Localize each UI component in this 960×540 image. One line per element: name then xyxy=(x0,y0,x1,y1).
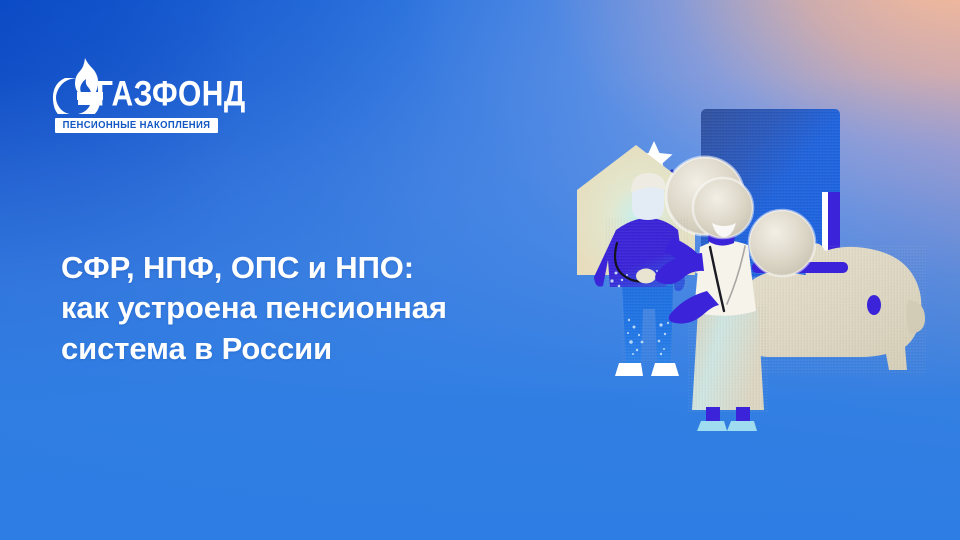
pension-system-illustration xyxy=(560,95,960,445)
gazfond-logo[interactable]: ГАЗФОНД ПЕНСИОННЫЕ НАКОПЛЕНИЯ xyxy=(52,56,224,138)
logo-wordmark: ГАЗФОНД xyxy=(96,77,246,112)
logo-tagline: ПЕНСИОННЫЕ НАКОПЛЕНИЯ xyxy=(55,118,218,133)
page-title-line-2: как устроена пенсионная xyxy=(61,288,581,328)
page-title-line-3: система в России xyxy=(61,329,581,369)
page-title-line-1: СФР, НПФ, ОПС и НПО: xyxy=(61,248,581,288)
shoe-left xyxy=(615,363,643,376)
shoe-right xyxy=(651,363,679,376)
piggy-eye xyxy=(867,295,881,315)
banner-canvas: ГАЗФОНД ПЕНСИОННЫЕ НАКОПЛЕНИЯ СФР, НПФ, … xyxy=(0,0,960,540)
logo-row: ГАЗФОНД xyxy=(52,56,224,114)
coin-small xyxy=(741,196,771,226)
page-title: СФР, НПФ, ОПС и НПО: как устроена пенсио… xyxy=(61,248,581,369)
logo-tagline-text: ПЕНСИОННЫЕ НАКОПЛЕНИЯ xyxy=(63,119,211,131)
